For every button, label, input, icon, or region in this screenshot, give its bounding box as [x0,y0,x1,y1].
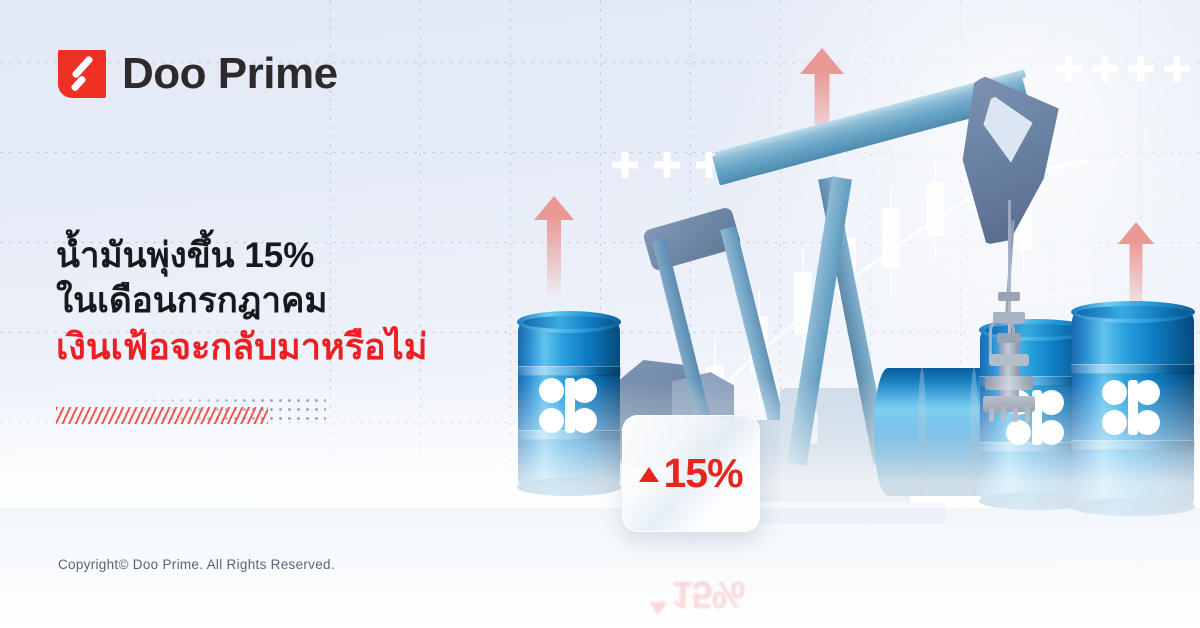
headline-line-2: ในเดือนกรกฎาคม [56,279,576,324]
percentage-badge: 15% [622,415,760,532]
percentage-value: 15% [663,453,742,494]
plus-icon [1092,56,1118,82]
plus-icon [1128,56,1154,82]
copyright-text: Copyright© Doo Prime. All Rights Reserve… [58,557,335,572]
triangle-up-icon-reflection [649,602,667,615]
brand-logo[interactable]: Doo Prime [58,50,338,98]
doo-prime-logo-mark [58,50,106,98]
decorative-divider [56,396,326,428]
headline-line-1: น้ำมันพุ่งขึ้น 15% [56,234,576,279]
percentage-value-reflection: 15% [671,572,744,615]
triangle-up-icon [639,467,659,482]
banner: 15% 15% Doo Prime น้ำมันพุ่งขึ้น 15% ในเ… [0,0,1200,628]
plus-icon [1164,56,1190,82]
brand-name: Doo Prime [122,52,338,96]
percentage-badge-reflection: 15% [628,545,766,615]
headline-line-3: เงินเฟ้อจะกลับมาหรือไม่ [56,324,576,370]
divider-red-stripes [56,407,268,424]
headline: น้ำมันพุ่งขึ้น 15% ในเดือนกรกฎาคม เงินเฟ… [56,234,576,370]
